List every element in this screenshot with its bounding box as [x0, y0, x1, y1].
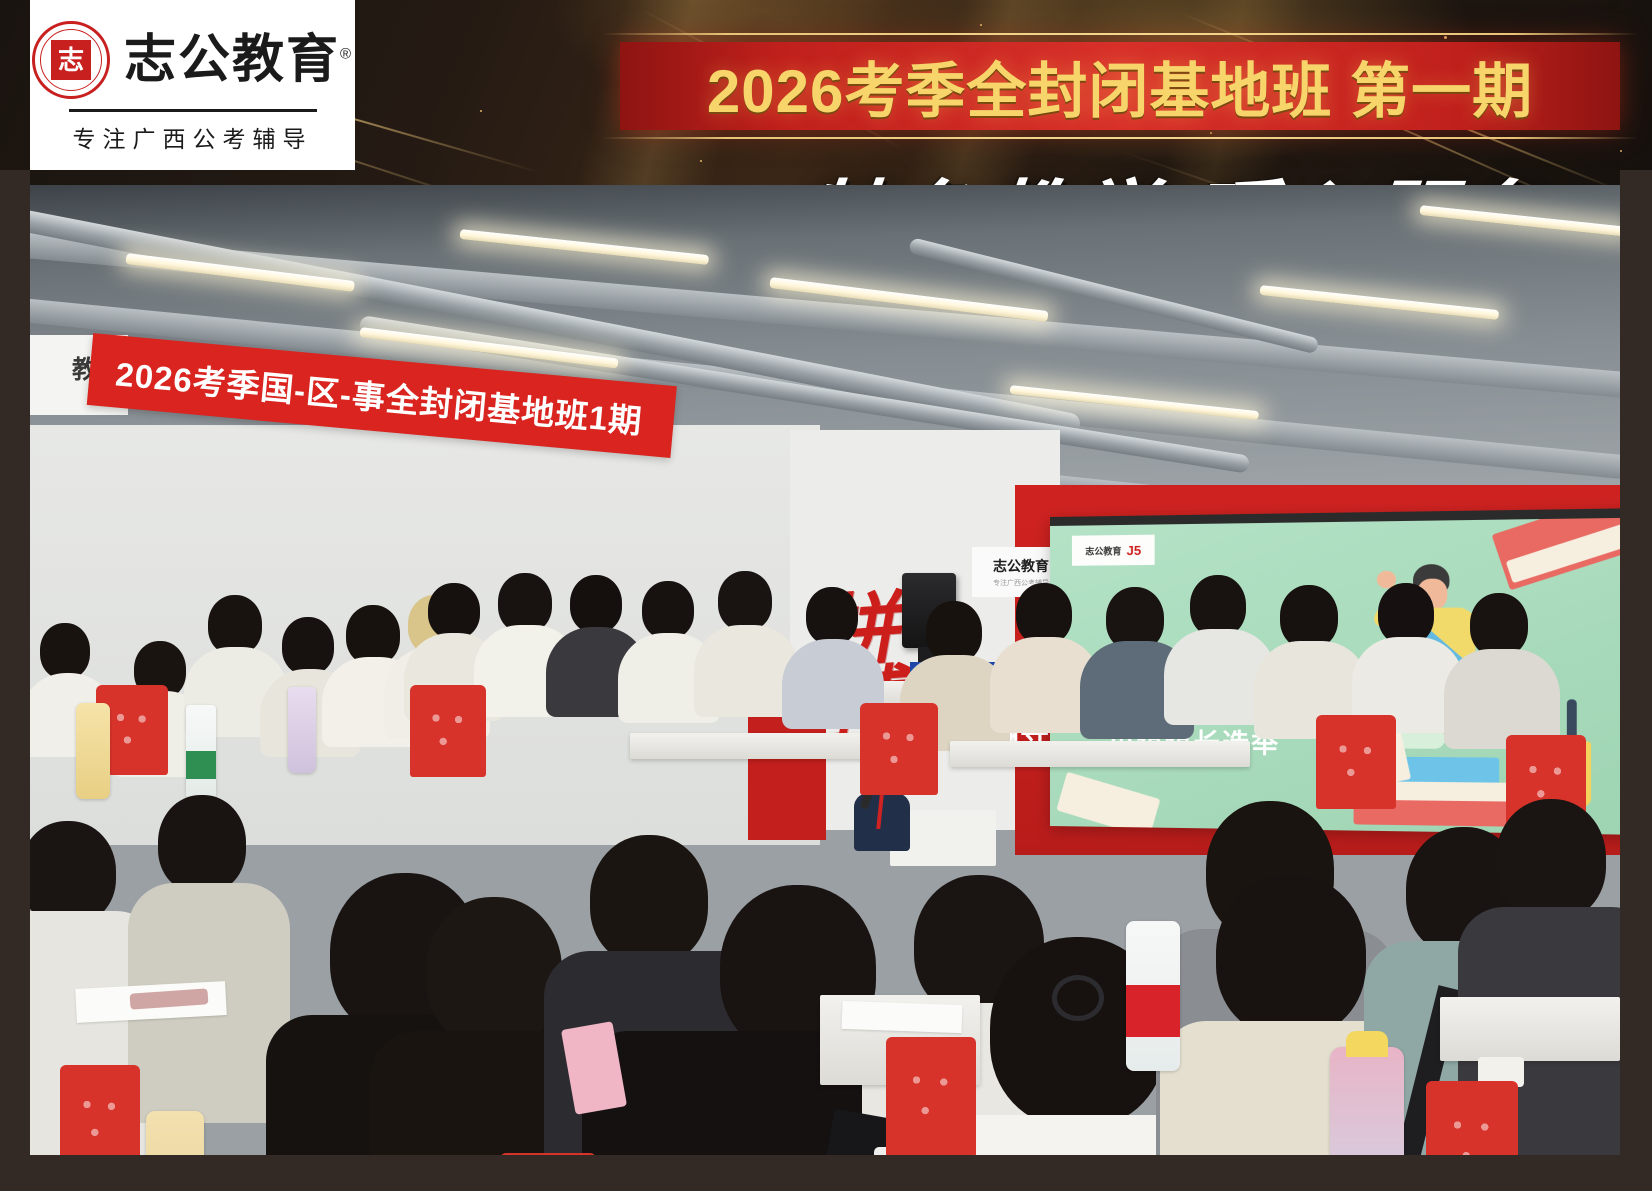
student-head — [1190, 575, 1246, 637]
student-head — [158, 795, 246, 893]
student-head — [926, 601, 982, 663]
student-head — [1280, 585, 1338, 649]
student-head — [1016, 583, 1072, 645]
student-head — [426, 897, 562, 1047]
student-head — [718, 571, 772, 631]
brand-name: 志公教育® — [124, 34, 353, 86]
tumbler — [1330, 1047, 1404, 1155]
chair — [886, 1037, 976, 1155]
chair — [860, 703, 938, 795]
student-head — [282, 617, 334, 675]
logo-divider — [69, 109, 317, 112]
student-head — [30, 821, 116, 925]
bottle-label — [186, 751, 216, 779]
bottle-label — [1126, 985, 1180, 1037]
audience: It Is Just our Story Story Is Continuing — [30, 185, 1620, 1155]
classroom-photo: 教育 辅 导 2026考季国-区-事全封闭基地班1期 拼搏 志公教育 专注广西公… — [30, 185, 1620, 1155]
registered-mark: ® — [340, 45, 353, 62]
student-head — [1378, 583, 1434, 645]
poster-root: 志 志公教育® 专注广西公考辅导 2026考季全封闭基地班 第一期 特色教学·暖… — [0, 0, 1652, 1191]
chair — [410, 685, 486, 777]
student-head — [570, 575, 622, 633]
student-head — [208, 595, 262, 655]
student-head — [498, 573, 552, 633]
student-head — [40, 623, 90, 679]
water-bottle — [288, 687, 316, 773]
thermos — [76, 703, 110, 799]
frame-right — [1620, 170, 1652, 1191]
hair-clip — [1052, 975, 1104, 1021]
student-head — [1470, 593, 1528, 657]
student-head — [806, 587, 858, 645]
student-head — [642, 581, 694, 639]
hero-title: 2026考季全封闭基地班 第一期 — [620, 42, 1620, 130]
desk — [950, 741, 1250, 767]
chair — [60, 1065, 140, 1155]
brand-logo-card: 志 志公教育® 专注广西公考辅导 — [30, 0, 355, 170]
brand-tagline: 专注广西公考辅导 — [73, 120, 313, 154]
chair — [1426, 1081, 1518, 1155]
frame-left — [0, 170, 30, 1191]
thermos — [146, 1111, 204, 1155]
student-head — [428, 583, 480, 639]
chair — [1316, 715, 1396, 809]
frame-bottom — [0, 1155, 1652, 1191]
student-body — [1444, 649, 1560, 749]
seal-glyph: 志 — [58, 47, 84, 73]
tumbler-lid — [1346, 1031, 1388, 1057]
student-head — [1216, 875, 1366, 1037]
student-head — [1496, 799, 1606, 921]
student-head — [346, 605, 400, 665]
handout-paper — [842, 1001, 963, 1033]
brand-seal-icon: 志 — [32, 21, 110, 99]
student-head — [590, 835, 708, 965]
desk — [1440, 997, 1620, 1061]
